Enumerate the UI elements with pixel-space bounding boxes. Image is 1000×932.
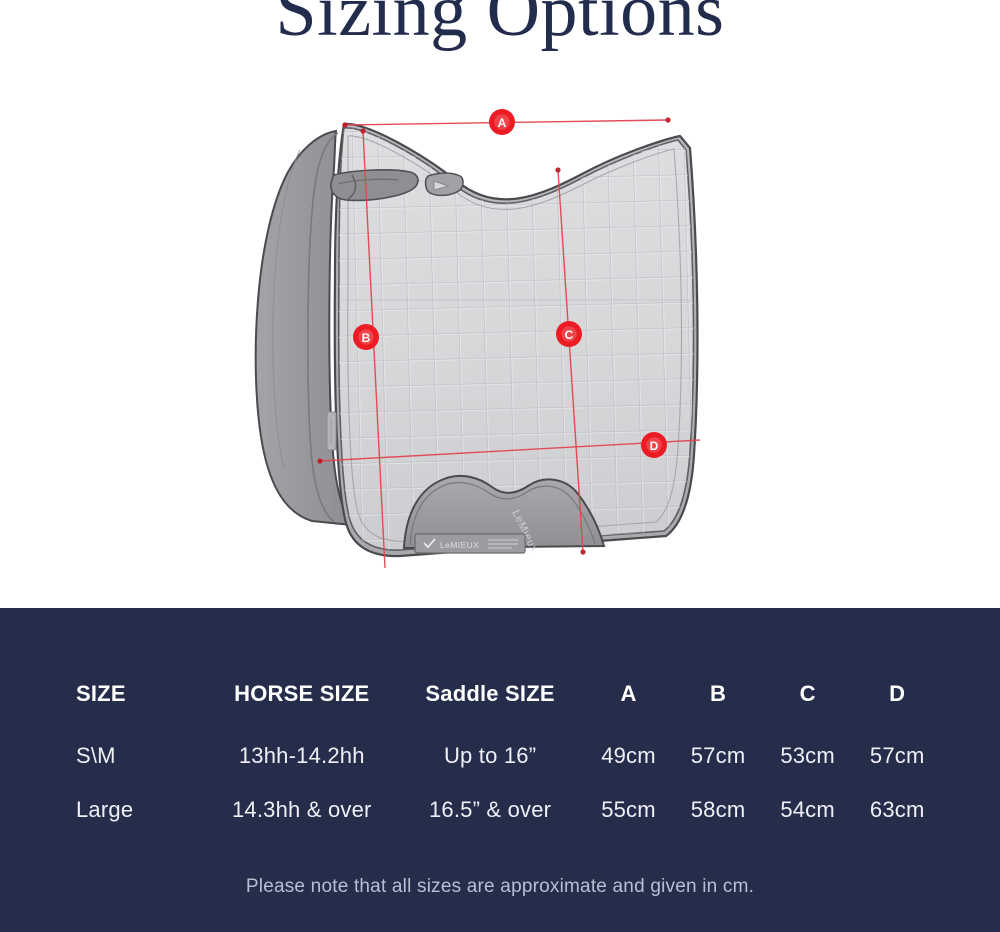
column-header-d: D (852, 670, 942, 720)
cell-saddle-size: 16.5” & over (396, 780, 583, 834)
cell-c: 54cm (763, 780, 853, 834)
marker-label-b: B (362, 331, 371, 345)
hero-section: Sizing Options (0, 0, 1000, 608)
column-header-a: A (584, 670, 674, 720)
marker-badge-c: C (556, 321, 582, 347)
cell-horse-size: 14.3hh & over (207, 780, 396, 834)
column-header-c: C (763, 670, 853, 720)
column-header-saddle-size: Saddle SIZE (396, 670, 583, 720)
cell-a: 49cm (584, 720, 674, 780)
cell-b: 58cm (673, 780, 763, 834)
side-brand-tab (327, 412, 336, 450)
sizing-note: Please note that all sizes are approxima… (0, 876, 1000, 898)
sizing-table: SIZE HORSE SIZE Saddle SIZE A B C D S\M … (72, 670, 942, 834)
sizing-spec-panel: SIZE HORSE SIZE Saddle SIZE A B C D S\M … (0, 608, 1000, 932)
table-row: Large 14.3hh & over 16.5” & over 55cm 58… (72, 780, 942, 834)
d-ring-keeper (426, 173, 463, 195)
cell-b: 57cm (673, 720, 763, 780)
marker-label-a: A (498, 116, 507, 130)
marker-label-c: C (565, 328, 574, 342)
care-label: LeMIEUX (415, 534, 525, 553)
column-header-size: SIZE (72, 670, 207, 720)
cell-horse-size: 13hh-14.2hh (207, 720, 396, 780)
marker-badge-d: D (641, 432, 667, 458)
table-header-row: SIZE HORSE SIZE Saddle SIZE A B C D (72, 670, 942, 720)
column-header-b: B (673, 670, 763, 720)
marker-label-d: D (650, 439, 659, 453)
saddle-pad-illustration: LeMieux LeMIEUX (0, 0, 1000, 608)
marker-badge-a: A (489, 109, 515, 135)
cell-a: 55cm (584, 780, 674, 834)
marker-badge-b: B (353, 324, 379, 350)
cell-saddle-size: Up to 16” (396, 720, 583, 780)
table-row: S\M 13hh-14.2hh Up to 16” 49cm 57cm 53cm… (72, 720, 942, 780)
cell-d: 57cm (852, 720, 942, 780)
column-header-horse-size: HORSE SIZE (207, 670, 396, 720)
cell-d: 63cm (852, 780, 942, 834)
cell-size: Large (72, 780, 207, 834)
svg-text:LeMIEUX: LeMIEUX (440, 540, 479, 550)
cell-size: S\M (72, 720, 207, 780)
cell-c: 53cm (763, 720, 853, 780)
